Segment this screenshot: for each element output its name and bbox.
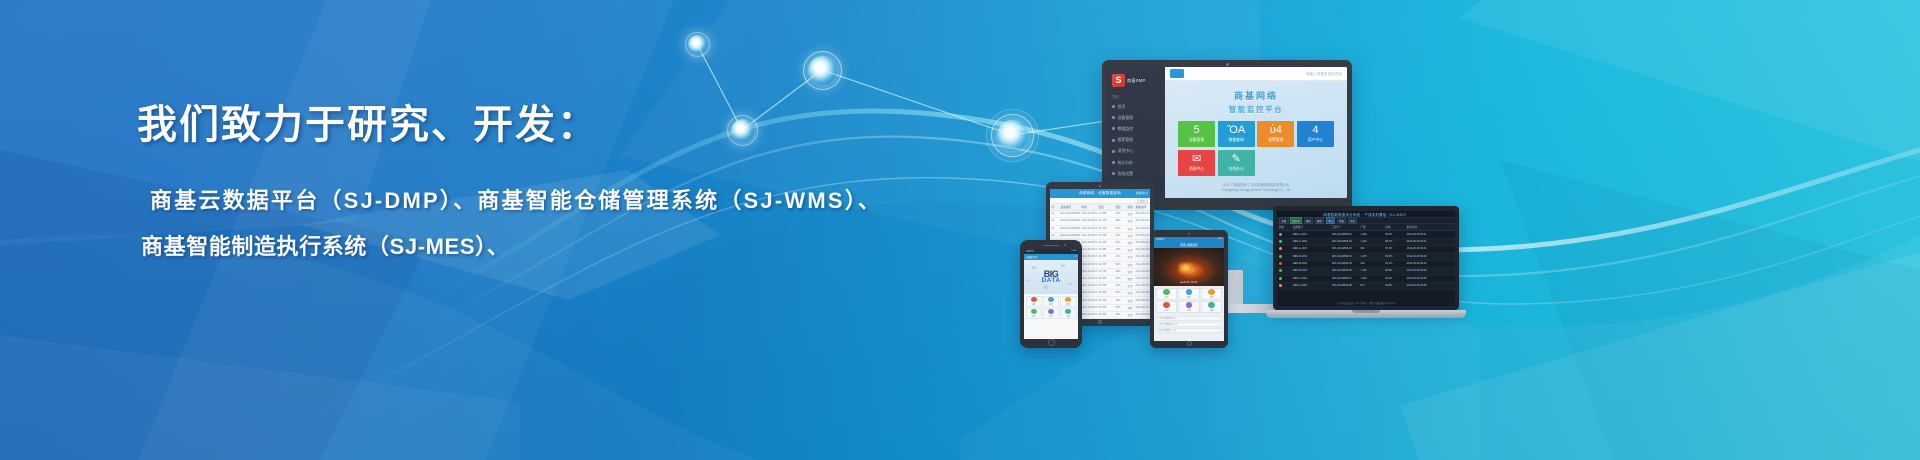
wordcloud-headline: BIG DATA: [1041, 269, 1060, 284]
dashboard-row[interactable]: MES-B-2002WO-20140508-05 31892.1%2014-05…: [1277, 261, 1455, 268]
table-cell: 2014-05-08 09:26:05: [1134, 262, 1150, 268]
status-dot-icon: [1279, 277, 1282, 280]
bullet-icon: [1112, 127, 1115, 130]
camera-list-item[interactable]: 2号车间 摄像机 B-04: [1156, 322, 1222, 327]
product-line-1: 商基云数据平台（SJ-DMP）、商基智能仓储管理系统（SJ-WMS）、: [150, 183, 882, 215]
table-header-row: 序设备编号时间温度湿度状态采集时间: [1050, 204, 1150, 211]
dashboard-cell: WO-20140508-01: [1330, 231, 1358, 237]
phone-tile-label: 设置: [1066, 315, 1070, 318]
table-column-header[interactable]: 湿度: [1114, 204, 1126, 210]
sidebar-section-label: 导航: [1107, 92, 1165, 101]
monitor-screen: S 商基SMP 导航 首页设备管理数据监控报警管理消息中心统计分析系统设置基础资…: [1107, 67, 1347, 198]
home-button[interactable]: [1098, 320, 1102, 324]
status-badge: [1277, 246, 1291, 252]
table-cell: 43%: [1114, 297, 1126, 303]
sidebar-item-label: 系统设置: [1118, 171, 1134, 177]
dashboard-cell: 1,205: [1359, 268, 1384, 274]
dashboard-cell: 1,052: [1359, 276, 1384, 282]
sidebar-item-3[interactable]: 报警管理: [1107, 135, 1165, 146]
mail-icon: ✉: [1192, 154, 1201, 165]
bigdata-word-2: DATA: [1041, 277, 1060, 284]
table-cell: 2014-05-08 09:36:27: [1134, 297, 1150, 303]
phone-tile-icon: [1048, 297, 1054, 302]
status-badge: [1277, 283, 1291, 289]
dashboard-cell: 96.8%: [1384, 283, 1405, 289]
video-tile-icon: [1186, 289, 1193, 295]
table-cell: 23.4℃: [1097, 226, 1114, 232]
front-camera-icon: [1099, 185, 1101, 187]
video-player[interactable]: ▶ 00:24 / 03:15: [1154, 248, 1224, 286]
table-cell: 01: [1050, 211, 1059, 217]
app-logo-text: 商基SMP: [1127, 78, 1145, 84]
dashboard-cell: 1,130: [1359, 239, 1384, 245]
video-tile-4[interactable]: 报警: [1178, 301, 1200, 313]
dashboard-cell: 2014-05-08 09:39: [1405, 268, 1455, 274]
table-cell: 正常: [1126, 254, 1134, 260]
app-hero-title: 商基网络: [1165, 89, 1347, 102]
dashboard-cell: 98.7%: [1384, 239, 1405, 245]
phone-tile-1[interactable]: 报表: [1043, 296, 1059, 307]
table-cell: 2014-05-08 09:38: [1080, 305, 1097, 311]
app-tile-label: 设备管理: [1189, 138, 1204, 143]
table-cell: 2014-05-08 09:32:44: [1134, 283, 1150, 289]
status-dot-icon: [1279, 284, 1282, 287]
logo-mark-icon: S: [1112, 74, 1125, 87]
status-dot-icon: [1279, 240, 1282, 243]
table-cell: 22.6℃: [1097, 312, 1114, 318]
dashboard-cell: 1,476: [1359, 254, 1384, 260]
monitor-app-main: 请输入您要查找的内容 商基网络 智能监控平台 ὚5设备管理ὌA数据查询ὑ4报警管…: [1165, 67, 1347, 198]
table-cell: 2014-05-08 09:34: [1080, 290, 1097, 296]
table-cell: 24.2℃: [1097, 240, 1114, 246]
dashboard-cell: MES-A-1002: [1291, 239, 1330, 245]
table-cell: 45%: [1114, 233, 1126, 239]
phone-tile-icon: [1065, 309, 1071, 314]
app-brand-block: [1170, 69, 1184, 78]
dashboard-cell: 318: [1359, 261, 1384, 267]
video-tile-1[interactable]: 回放: [1178, 288, 1200, 300]
wordcloud-banner: BIG DATA: [1024, 260, 1078, 294]
dashboard-cell: 962: [1359, 246, 1384, 252]
dashboard-cell: MES-B-2003: [1291, 268, 1330, 274]
table-cell: 21.7℃: [1097, 269, 1114, 275]
sidebar-item-6[interactable]: 系统设置: [1107, 168, 1165, 179]
dashboard-row[interactable]: MES-A-1003WO-20140508-03 96297.4%2014-05…: [1277, 246, 1455, 253]
dashboard-cell: WO-20140508-03: [1330, 246, 1358, 252]
table-column-header[interactable]: 设备编号: [1059, 204, 1080, 210]
product-line-2: 商基智能制造执行系统（SJ-MES）、: [141, 229, 509, 261]
status-badge: [1277, 276, 1291, 282]
dashboard-cell: MES-C-3002: [1291, 283, 1330, 289]
video-tile-icon: [1208, 302, 1215, 308]
carrier-label: 中国移动: [1026, 250, 1034, 253]
app-tile-label: 在线办公: [1229, 167, 1244, 172]
sidebar-item-5[interactable]: 统计分析: [1107, 157, 1165, 168]
phone-tile-2[interactable]: 报警: [1060, 296, 1076, 307]
app-hero-subtitle: 智能监控平台: [1165, 104, 1347, 115]
table-cell: 22.8℃: [1097, 247, 1114, 253]
table-row[interactable]: 02DEV-20140508022014-05-08 09:1422.1℃48%…: [1050, 218, 1150, 225]
table-cell: 2014-05-08 09:36: [1080, 297, 1097, 303]
table-cell: 25.0℃: [1097, 276, 1114, 282]
table-cell: 44%: [1114, 269, 1126, 275]
filter-chip-6[interactable]: 导出: [1348, 217, 1358, 224]
table-cell: 2014-05-08 09:38:51: [1134, 305, 1150, 311]
table-cell: 21.3℃: [1097, 297, 1114, 303]
table-cell: 2014-05-08 09:12:07: [1134, 211, 1150, 217]
table-cell: 21.5℃: [1097, 211, 1114, 217]
table-cell: 50%: [1114, 262, 1126, 268]
play-progress-label[interactable]: ▶ 00:24 / 03:15: [1181, 281, 1197, 284]
table-cell: 46%: [1114, 283, 1126, 289]
banner-copy: 我们致力于研究、开发： 商基云数据平台（SJ-DMP）、商基智能仓储管理系统（S…: [0, 0, 1000, 460]
tablet-app-title: 商基网络 · 设备数据查询: [1079, 191, 1121, 196]
video-tile-5[interactable]: 设置: [1201, 301, 1223, 313]
table-column-header[interactable]: 采集时间: [1134, 204, 1150, 210]
table-cell: 正常: [1126, 290, 1134, 296]
laptop-lid: 商基智能制造执行系统 · 产线实时看板（SJ-MES） 全部运行中待机报警今日本…: [1273, 206, 1459, 310]
phone-tile-label: 统计: [1049, 315, 1053, 318]
status-dot-icon: [1279, 269, 1282, 272]
filter-chip-4[interactable]: 今日: [1326, 217, 1336, 224]
table-cell: 2014-05-08 09:12: [1080, 211, 1097, 217]
table-cell: 2014-05-08 09:26: [1080, 262, 1097, 268]
status-dot-icon: [1279, 233, 1282, 236]
table-cell: 报警: [1126, 276, 1134, 282]
phone-tile-icon: [1048, 309, 1054, 314]
app-tile-0[interactable]: ὚5设备管理: [1178, 121, 1215, 147]
status-badge: [1277, 231, 1291, 237]
status-badge: [1277, 239, 1291, 245]
table-cell: 2014-05-08 09:34:09: [1134, 290, 1150, 296]
table-cell: 2014-05-08 09:20:19: [1134, 240, 1150, 246]
status-dot-icon: [1279, 247, 1282, 250]
video-tile-label: 回放: [1187, 296, 1191, 299]
sidebar-item-1[interactable]: 设备管理: [1107, 112, 1165, 123]
table-cell: 48%: [1114, 218, 1126, 224]
status-badge: [1277, 261, 1291, 267]
app-tile-label: 用户中心: [1308, 138, 1323, 143]
table-cell: DEV-2014050803: [1059, 226, 1080, 232]
home-button[interactable]: [1187, 341, 1192, 346]
table-cell: 49%: [1114, 247, 1126, 253]
laptop-base-notch: [1352, 310, 1380, 313]
app-tile-label: 消息中心: [1189, 167, 1204, 172]
table-cell: 22.0℃: [1097, 283, 1114, 289]
app-tile-label: 报警管理: [1268, 138, 1283, 143]
phone-tile-0[interactable]: 设备: [1026, 296, 1042, 307]
chart-icon: ὌA: [1227, 125, 1245, 136]
table-cell: 2014-05-08 09:16:23: [1134, 226, 1150, 232]
table-cell: 22.4℃: [1097, 262, 1114, 268]
table-cell: 2014-05-08 09:40: [1080, 312, 1097, 318]
user-icon: ὆4: [1312, 125, 1318, 136]
monitor-app-topbar: 请输入您要查找的内容: [1165, 67, 1347, 81]
table-cell: 47%: [1114, 254, 1126, 260]
phone-tile-label: 报警: [1066, 303, 1070, 306]
table-cell: DEV-2014050801: [1059, 211, 1080, 217]
dashboard-cell: MES-B-2001: [1291, 254, 1330, 260]
video-tile-label: 报警: [1187, 309, 1191, 312]
edit-icon: ✎: [1232, 154, 1241, 165]
bullet-icon: [1112, 105, 1115, 108]
table-column-header[interactable]: 状态: [1126, 204, 1134, 210]
sidebar-item-2[interactable]: 数据监控: [1107, 123, 1165, 134]
front-camera-icon: [1188, 233, 1190, 235]
table-cell: 52%: [1114, 290, 1126, 296]
table-cell: 46%: [1114, 211, 1126, 217]
table-column-header[interactable]: 温度: [1097, 204, 1114, 210]
app-tile-label: 数据查询: [1229, 138, 1244, 143]
video-tile-label: 设置: [1210, 309, 1214, 312]
status-badge: [1277, 268, 1291, 274]
video-tile-label: 实时: [1164, 296, 1168, 299]
dashboard-row[interactable]: MES-A-1002WO-20140508-021,13098.7%2014-0…: [1277, 239, 1455, 246]
table-cell: DEV-2014050804: [1059, 233, 1080, 239]
table-row[interactable]: 03DEV-20140508032014-05-08 09:1623.4℃51%…: [1050, 226, 1150, 233]
dashboard-cell: WO-20140508-02: [1330, 239, 1358, 245]
bullet-icon: [1112, 161, 1115, 164]
table-cell: 正常: [1126, 226, 1134, 232]
sidebar-item-label: 设备管理: [1118, 115, 1134, 121]
video-tile-icon: [1163, 289, 1170, 295]
dashboard-row[interactable]: MES-B-2003WO-20140508-061,20598.9%2014-0…: [1277, 268, 1455, 275]
sidebar-nav: 首页设备管理数据监控报警管理消息中心统计分析系统设置基础资料: [1107, 101, 1165, 191]
table-cell: 53%: [1114, 240, 1126, 246]
phone-tile-icon: [1031, 297, 1037, 302]
dashboard-column-header[interactable]: 工单号: [1330, 224, 1358, 230]
table-cell: 2014-05-08 09:18: [1080, 233, 1097, 239]
filter-chip-2[interactable]: 待机: [1304, 217, 1314, 224]
table-cell: 正常: [1126, 297, 1134, 303]
tablet-video-mockup: 中国移动 86% 现场 视频监控 ▶ 00:24 / 03:15 实时回放抓拍云…: [1150, 230, 1228, 348]
dashboard-cell: 2014-05-08 09:40: [1405, 254, 1455, 260]
table-cell: 23.6℃: [1097, 290, 1114, 296]
video-tile-0[interactable]: 实时: [1156, 288, 1178, 300]
dashboard-column-header[interactable]: 更新时间: [1405, 224, 1455, 230]
table-cell: 2014-05-08 09:16: [1080, 226, 1097, 232]
table-cell: 预警: [1126, 240, 1134, 246]
dashboard-cell: 2014-05-08 09:40: [1405, 246, 1455, 252]
dashboard-cell: 2014-05-08 09:39: [1405, 261, 1455, 267]
tablet-video-screen: 中国移动 86% 现场 视频监控 ▶ 00:24 / 03:15 实时回放抓拍云…: [1154, 237, 1224, 341]
bullet-icon: [1112, 139, 1115, 142]
phone-tile-3[interactable]: 消息: [1026, 308, 1042, 319]
device-mockups: S 商基SMP 导航 首页设备管理数据监控报警管理消息中心统计分析系统设置基础资…: [1000, 0, 1920, 460]
dashboard-statusbar: 共 24 台设备 运行 19 · 待机 3 · 报警 2 最后刷新 09:41:…: [1277, 300, 1455, 306]
dashboard-cell: 99.2%: [1384, 231, 1405, 237]
table-cell: 24.5℃: [1097, 305, 1114, 311]
table-cell: 2014-05-08 09:28:30: [1134, 269, 1150, 275]
table-row[interactable]: 04DEV-20140508042014-05-08 09:1821.9℃45%…: [1050, 233, 1150, 240]
table-cell: 正常: [1126, 218, 1134, 224]
video-tile-3[interactable]: 云台: [1156, 301, 1178, 313]
phone-screen: 中国移动 100% 大数据平台 ≡ BIG DATA 设备报表报警消息统计设置: [1024, 249, 1078, 339]
camera-list: 1号车间 摄像机 A-012号车间 摄像机 B-04成品仓 摄像机 C-02: [1154, 315, 1224, 335]
video-tile-icon: [1208, 289, 1215, 295]
battery-label: 100%: [1071, 250, 1076, 252]
table-cell: DEV-2014050802: [1059, 218, 1080, 224]
table-cell: 2014-05-08 09:14:11: [1134, 218, 1150, 224]
sidebar-item-label: 消息中心: [1118, 148, 1134, 154]
filter-chip-5[interactable]: 本周: [1337, 217, 1347, 224]
app-tile-grid: ὚5设备管理ὌA数据查询ὑ4报警管理὆4用户中心✉消息中心✎在线办公: [1165, 121, 1347, 176]
table-column-header[interactable]: 序: [1050, 204, 1059, 210]
bell-icon: ὑ4: [1270, 125, 1282, 136]
dashboard-cell: 99.5%: [1384, 254, 1405, 260]
dashboard-header-row: 状态设备编号工单号产量良率更新时间: [1277, 224, 1455, 231]
table-cell: 22.1℃: [1097, 218, 1114, 224]
dashboard-row[interactable]: MES-A-1001WO-20140508-011,28499.2%2014-0…: [1277, 231, 1455, 238]
bullet-icon: [1112, 172, 1115, 175]
table-column-header[interactable]: 时间: [1080, 204, 1097, 210]
table-cell: 正常: [1126, 233, 1134, 239]
table-cell: 正常: [1126, 269, 1134, 275]
dashboard-cell: WO-20140508-07: [1330, 276, 1358, 282]
table-cell: 2014-05-08 09:22: [1080, 247, 1097, 253]
app-navbar-title: 现场 视频监控: [1180, 243, 1198, 247]
dashboard-cell: 2014-05-08 09:41: [1405, 231, 1455, 237]
sidebar-item-4[interactable]: 消息中心: [1107, 146, 1165, 157]
table-cell: 2014-05-08 09:30: [1080, 276, 1097, 282]
laptop-screen: 商基智能制造执行系统 · 产线实时看板（SJ-MES） 全部运行中待机报警今日本…: [1277, 211, 1455, 306]
dashboard-row[interactable]: MES-C-3002WO-20140508-08 87496.8%2014-05…: [1277, 283, 1455, 290]
hero-banner: 我们致力于研究、开发： 商基云数据平台（SJ-DMP）、商基智能仓储管理系统（S…: [0, 0, 1920, 460]
sidebar-item-label: 数据监控: [1118, 126, 1134, 132]
phone-tile-icon: [1065, 297, 1071, 302]
status-badge: [1277, 254, 1291, 260]
app-logo: S 商基SMP: [1107, 71, 1165, 92]
page-title: 我们致力于研究、开发：: [137, 92, 599, 150]
table-cell: 正常: [1126, 262, 1134, 268]
bullet-icon: [1112, 116, 1115, 119]
filter-chip-3[interactable]: 报警: [1315, 217, 1325, 224]
table-cell: 21.9℃: [1097, 233, 1114, 239]
filter-chip-0[interactable]: 全部: [1279, 217, 1289, 224]
carrier-label: 中国移动: [1156, 238, 1164, 241]
phone-mockup: 中国移动 100% 大数据平台 ≡ BIG DATA 设备报表报警消息统计设置: [1020, 240, 1082, 348]
table-cell: 48%: [1114, 312, 1126, 318]
monitor-app-sidebar: S 商基SMP 导航 首页设备管理数据监控报警管理消息中心统计分析系统设置基础资…: [1107, 67, 1165, 198]
table-cell: 03: [1050, 226, 1059, 232]
app-tile-2[interactable]: ὑ4报警管理: [1257, 121, 1294, 147]
table-cell: 预警: [1126, 305, 1134, 311]
dashboard-row[interactable]: MES-B-2001WO-20140508-041,47699.5%2014-0…: [1277, 254, 1455, 261]
dashboard-cell: WO-20140508-08: [1330, 283, 1358, 289]
table-cell: 2014-05-08 09:32: [1080, 283, 1097, 289]
video-tile-icon: [1163, 302, 1170, 308]
app-navbar-title: 大数据平台: [1026, 255, 1038, 259]
earpiece-speaker: [1043, 245, 1059, 247]
dashboard-cell: WO-20140508-04: [1330, 254, 1358, 260]
dashboard-cell: 874: [1359, 283, 1384, 289]
table-cell: 04: [1050, 233, 1059, 239]
video-tile-label: 云台: [1164, 309, 1168, 312]
dashboard-cell: MES-B-2002: [1291, 261, 1330, 267]
webcam-icon: [1226, 63, 1229, 66]
battery-label: 86%: [1218, 238, 1222, 240]
search-input[interactable]: 请输入您要查找的内容: [1306, 71, 1342, 76]
monitor-icon: ὚5: [1194, 125, 1200, 136]
dashboard-column-header[interactable]: 良率: [1384, 224, 1405, 230]
front-camera-icon: [1064, 244, 1066, 246]
table-cell: 2014-05-08 09:24:41: [1134, 254, 1150, 260]
dashboard-cell: WO-20140508-05: [1330, 261, 1358, 267]
video-frame-content: [1179, 263, 1193, 273]
app-tile-5[interactable]: ✎在线办公: [1218, 150, 1255, 176]
filter-chip-1[interactable]: 运行中: [1290, 217, 1302, 224]
video-tile-icon: [1186, 302, 1193, 308]
dashboard-cell: 99.0%: [1384, 276, 1405, 282]
status-dot-icon: [1279, 255, 1282, 258]
tablet-app-section: 数据中心: [1136, 191, 1148, 195]
app-tile-3[interactable]: ὆4用户中心: [1297, 121, 1334, 147]
app-tile-1[interactable]: ὌA数据查询: [1218, 121, 1255, 147]
dashboard-cell: WO-20140508-06: [1330, 268, 1358, 274]
home-button[interactable]: [1048, 339, 1055, 346]
table-cell: 02: [1050, 218, 1059, 224]
dashboard-body: MES-A-1001WO-20140508-011,28499.2%2014-0…: [1277, 231, 1455, 290]
table-cell: 2014-05-08 09:14: [1080, 218, 1097, 224]
camera-list-item[interactable]: 成品仓 摄像机 C-02: [1156, 328, 1222, 333]
app-footer: 2014 © 版权所有 广东省商基网络科技有限公司 Guangdong Shan…: [1165, 183, 1347, 194]
table-cell: 2014-05-08 09:28: [1080, 269, 1097, 275]
phone-tile-label: 消息: [1032, 315, 1036, 318]
dashboard-cell: 2014-05-08 09:38: [1405, 283, 1455, 289]
phone-tile-icon: [1031, 309, 1037, 314]
app-tile-grid: 实时回放抓拍云台报警设置: [1154, 286, 1224, 315]
app-tile-4[interactable]: ✉消息中心: [1178, 150, 1215, 176]
status-dot-icon: [1279, 262, 1282, 265]
dashboard-cell: 2014-05-08 09:41: [1405, 239, 1455, 245]
dashboard-cell: 2014-05-08 09:38: [1405, 276, 1455, 282]
table-row[interactable]: 01DEV-20140508012014-05-08 09:1221.5℃46%…: [1050, 211, 1150, 218]
table-cell: 正常: [1126, 211, 1134, 217]
dashboard-cell: 98.9%: [1384, 268, 1405, 274]
dashboard-row[interactable]: MES-C-3001WO-20140508-071,05299.0%2014-0…: [1277, 276, 1455, 283]
tablet-app-titlebar: 商基网络 · 设备数据查询 数据中心: [1050, 189, 1150, 198]
bullet-icon: [1112, 150, 1115, 153]
table-cell: 正常: [1126, 283, 1134, 289]
hamburger-menu-icon[interactable]: ≡: [1075, 255, 1076, 258]
table-cell: 2014-05-08 09:40:16: [1134, 312, 1150, 318]
export-button[interactable]: 导出: [1137, 197, 1148, 204]
dashboard-column-header[interactable]: 状态: [1277, 224, 1291, 230]
dashboard-cell: 1,284: [1359, 231, 1384, 237]
sidebar-item-label: 统计分析: [1118, 160, 1134, 166]
table-cell: 56%: [1114, 276, 1126, 282]
dashboard-cell: MES-A-1001: [1291, 231, 1330, 237]
phone-tile-5[interactable]: 设置: [1060, 308, 1076, 319]
table-cell: 正常: [1126, 312, 1134, 318]
table-cell: 55%: [1114, 305, 1126, 311]
dashboard-cell: MES-A-1003: [1291, 246, 1330, 252]
phone-tile-4[interactable]: 统计: [1043, 308, 1059, 319]
app-tile-grid: 设备报表报警消息统计设置: [1024, 294, 1078, 321]
table-cell: 2014-05-08 09:30:12: [1134, 276, 1150, 282]
table-cell: 51%: [1114, 226, 1126, 232]
app-hero: 商基网络 智能监控平台: [1165, 81, 1347, 121]
dashboard-column-header[interactable]: 产量: [1359, 224, 1384, 230]
sidebar-item-0[interactable]: 首页: [1107, 101, 1165, 112]
camera-list-item[interactable]: 1号车间 摄像机 A-01: [1156, 316, 1222, 321]
dashboard-column-header[interactable]: 设备编号: [1291, 224, 1330, 230]
table-cell: 23.1℃: [1097, 254, 1114, 260]
dashboard-cell: MES-C-3001: [1291, 276, 1330, 282]
footer-copyright-en: Guangdong Shangji Internet Technology Co…: [1165, 188, 1347, 193]
video-tile-2[interactable]: 抓拍: [1201, 288, 1223, 300]
sidebar-item-label: 首页: [1118, 104, 1126, 110]
